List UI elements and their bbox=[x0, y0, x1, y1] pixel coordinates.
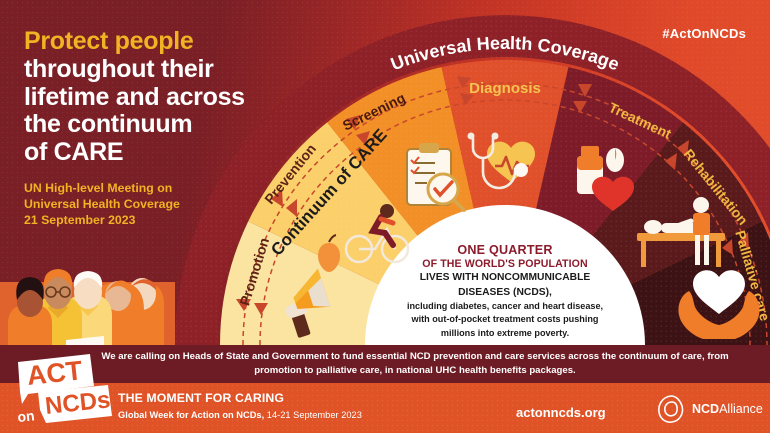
footer-title: THE MOMENT FOR CARING bbox=[118, 391, 362, 405]
headline-line-5: of CARE bbox=[24, 139, 294, 167]
ncd-alliance-bold: NCD bbox=[692, 402, 719, 416]
act-logo-word-act: ACT bbox=[25, 355, 84, 391]
footer-text-block: THE MOMENT FOR CARING Global Week for Ac… bbox=[118, 391, 362, 420]
center-statistic-text: ONE QUARTER OF THE WORLD'S POPULATION LI… bbox=[385, 243, 625, 340]
crowd-illustration bbox=[0, 244, 175, 349]
subheadline-line-1: UN High-level Meeting on bbox=[24, 180, 294, 196]
center-line-5: including diabetes, cancer and heart dis… bbox=[385, 301, 625, 313]
act-logo-word-on: on bbox=[17, 407, 36, 425]
label-diagnosis: Diagnosis bbox=[469, 80, 541, 97]
hashtag-label: #ActOnNCDs bbox=[662, 26, 746, 41]
subheadline-line-3: 21 September 2023 bbox=[24, 212, 294, 228]
ncd-alliance-rest: Alliance bbox=[719, 402, 763, 416]
headline-line-3: lifetime and across bbox=[24, 84, 294, 112]
subheadline-line-2: Universal Health Coverage bbox=[24, 196, 294, 212]
ncd-alliance-mark-icon bbox=[657, 394, 685, 424]
center-line-4: DISEASES (NCDS), bbox=[385, 287, 625, 299]
center-line-3: LIVES WITH NONCOMMUNICABLE bbox=[385, 272, 625, 284]
footer-subtitle: Global Week for Action on NCDs, 14-21 Se… bbox=[118, 410, 362, 420]
footer-subtitle-bold: Global Week for Action on NCDs, bbox=[118, 410, 264, 420]
headline-block: Protect people throughout their lifetime… bbox=[24, 28, 294, 229]
act-on-ncds-logo[interactable]: ACT NCDs on bbox=[8, 352, 116, 430]
center-line-2: OF THE WORLD'S POPULATION bbox=[385, 258, 625, 271]
footer-subtitle-rest: 14-21 September 2023 bbox=[264, 410, 362, 420]
headline-line-1: Protect people bbox=[24, 28, 294, 56]
footer-website-url[interactable]: actonncds.org bbox=[516, 405, 606, 420]
ncd-alliance-wordmark: NCDAlliance bbox=[692, 402, 763, 416]
ncd-alliance-logo[interactable]: NCDAlliance bbox=[657, 394, 763, 424]
center-line-1: ONE QUARTER bbox=[385, 243, 625, 258]
headline-line-2: throughout their bbox=[24, 56, 294, 84]
center-line-6: with out-of-pocket treatment costs pushi… bbox=[385, 314, 625, 326]
headline-line-4: the continuum bbox=[24, 111, 294, 139]
subheadline-block: UN High-level Meeting on Universal Healt… bbox=[24, 180, 294, 229]
call-to-action-text: We are calling on Heads of State and Gov… bbox=[95, 350, 735, 378]
center-line-7: millions into extreme poverty. bbox=[385, 328, 625, 340]
infographic-poster: Protect people throughout their lifetime… bbox=[0, 0, 770, 433]
